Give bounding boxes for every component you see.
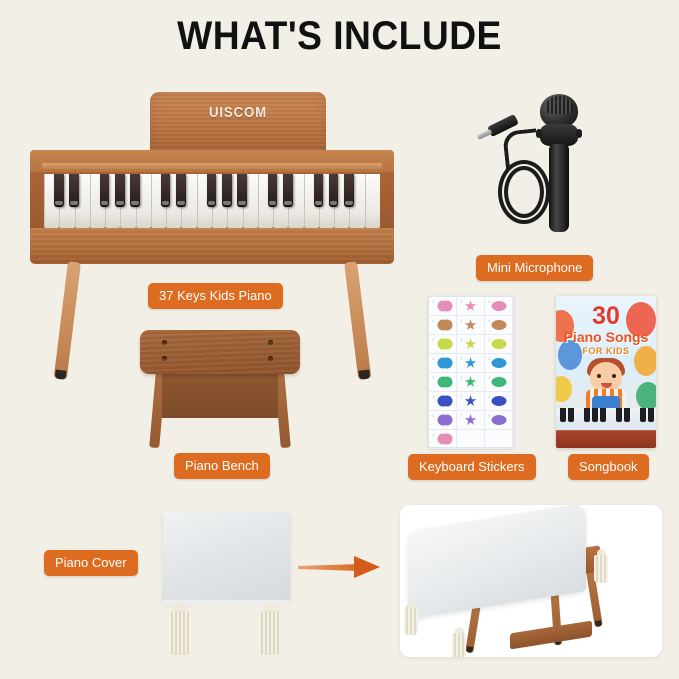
tassel-skirt xyxy=(169,611,191,655)
sticker-star-icon xyxy=(465,357,477,369)
music-note-icon: ♪ xyxy=(432,300,435,305)
product-infographic: WHAT'S INCLUDE UISCOM 37 Keys Kids Piano… xyxy=(0,0,679,679)
cover-cloth xyxy=(163,512,290,602)
tassel-skirt xyxy=(404,607,418,635)
piano-black-key xyxy=(176,174,185,207)
bench-apron xyxy=(162,372,278,418)
music-note-icon: ♪ xyxy=(460,300,463,305)
sticker-star-icon xyxy=(465,319,477,331)
product-songbook: 30 Piano Songs FOR KIDS xyxy=(556,296,656,448)
sticker-oval-icon xyxy=(491,301,506,311)
music-note-icon: ♪ xyxy=(460,376,463,381)
arrow-head xyxy=(354,556,380,578)
piano-front-panel xyxy=(30,228,394,264)
piano-black-key xyxy=(161,174,170,207)
sticker-star-icon xyxy=(465,414,477,426)
piano-leg-left xyxy=(54,261,81,380)
piano-black-key xyxy=(268,174,277,207)
piano-black-key xyxy=(314,174,323,207)
piano-black-key xyxy=(54,174,63,207)
sticker-moon-icon xyxy=(437,320,448,331)
balloon-icon xyxy=(556,376,572,402)
product-keyboard-stickers: ♪♪♪♪♪♪♪♪♪♪♪♪♪♪♪♪♪♪♪♪♪♪ xyxy=(428,296,514,448)
music-note-icon: ♪ xyxy=(460,395,463,400)
sticker-oval-icon xyxy=(491,396,506,406)
tassel-skirt xyxy=(594,555,608,583)
sticker-moon-icon xyxy=(437,301,448,312)
sticker-cell: ♪ xyxy=(429,373,457,392)
brand-logo: UISCOM xyxy=(161,104,316,121)
sticker-cell: ♪ xyxy=(485,297,513,316)
piano-leg-right xyxy=(344,261,371,380)
tassel-skirt xyxy=(259,611,281,655)
cover-in-use-panel xyxy=(400,505,662,657)
product-bench xyxy=(140,330,300,450)
music-note-icon: ♪ xyxy=(432,338,435,343)
piano-white-key xyxy=(365,174,380,228)
mic-grill xyxy=(545,96,573,114)
panel-tassel-mid xyxy=(452,627,466,657)
sticker-moon-icon xyxy=(437,434,448,445)
sticker-oval-icon xyxy=(491,339,506,349)
sticker-cell: ♪ xyxy=(485,316,513,335)
label-piano: 37 Keys Kids Piano xyxy=(148,283,283,309)
piano-black-key xyxy=(207,174,216,207)
sticker-oval-icon xyxy=(491,415,506,425)
mic-handle xyxy=(549,144,569,232)
panel-cover-cloth xyxy=(408,505,586,619)
sticker-cell: ♪ xyxy=(485,354,513,373)
sticker-cell: ♪ xyxy=(429,392,457,411)
bench-screw-hole xyxy=(162,340,167,345)
sticker-cell: ♪ xyxy=(429,316,457,335)
balloon-icon xyxy=(636,382,656,410)
sticker-cell: ♪ xyxy=(457,335,485,354)
piano-black-key xyxy=(344,174,353,207)
music-note-icon: ♪ xyxy=(432,395,435,400)
music-note-icon: ♪ xyxy=(432,414,435,419)
boy-eye-right xyxy=(612,374,616,378)
arrow-shaft xyxy=(298,564,360,571)
bench-screw-hole xyxy=(268,340,273,345)
panel-bench xyxy=(510,621,592,650)
piano-black-key xyxy=(130,174,139,207)
piano-black-key xyxy=(329,174,338,207)
sticker-moon-icon xyxy=(437,396,448,407)
sticker-cell: ♪ xyxy=(457,373,485,392)
sticker-moon-icon xyxy=(437,415,448,426)
label-songbook: Songbook xyxy=(568,454,649,480)
sticker-cell: ♪ xyxy=(457,354,485,373)
mic-cable-lead xyxy=(502,128,540,169)
sticker-star-icon xyxy=(465,395,477,407)
sticker-cell: ♪ xyxy=(485,411,513,430)
bench-screw-hole xyxy=(162,356,167,361)
sticker-star-icon xyxy=(465,376,477,388)
panel-tassel-left xyxy=(404,601,418,635)
songbook-black-key xyxy=(560,408,566,422)
sticker-cell: ♪ xyxy=(485,373,513,392)
piano-black-key xyxy=(237,174,246,207)
sticker-cell: ♪ xyxy=(429,354,457,373)
product-piano: UISCOM xyxy=(26,92,398,292)
sticker-cell: ♪ xyxy=(457,316,485,335)
music-note-icon: ♪ xyxy=(460,338,463,343)
sticker-cell: ♪ xyxy=(429,297,457,316)
sticker-cell: ♪ xyxy=(485,335,513,354)
piano-black-key xyxy=(115,174,124,207)
sticker-cell: ♪ xyxy=(485,392,513,411)
cover-tassel-right xyxy=(259,602,281,654)
songbook-black-key xyxy=(616,408,622,422)
songbook-black-key xyxy=(640,408,646,422)
boy-eye-left xyxy=(597,374,601,378)
songbook-black-key xyxy=(584,408,590,422)
sticker-cell: ♪ xyxy=(429,430,457,449)
sticker-cell: ♪ xyxy=(457,392,485,411)
songbook-black-key xyxy=(568,408,574,422)
songbook-subtitle: FOR KIDS xyxy=(556,346,656,356)
label-bench: Piano Bench xyxy=(174,453,270,479)
piano-black-key xyxy=(69,174,78,207)
sticker-cell: ♪ xyxy=(429,411,457,430)
product-piano-cover xyxy=(163,512,290,657)
tassel-skirt xyxy=(452,633,466,657)
sticker-moon-icon xyxy=(437,358,448,369)
piano-black-key xyxy=(283,174,292,207)
music-note-icon: ♪ xyxy=(460,414,463,419)
songbook-black-key xyxy=(592,408,598,422)
songbook-piano-illustration xyxy=(556,408,656,448)
sticker-moon-icon xyxy=(437,377,448,388)
music-note-icon: ♪ xyxy=(432,433,435,438)
panel-tassel-right xyxy=(594,549,608,583)
sticker-star-icon xyxy=(465,338,477,350)
product-microphone xyxy=(488,90,598,245)
sticker-cell: ♪ xyxy=(429,335,457,354)
sticker-cell xyxy=(485,430,513,449)
mic-collar xyxy=(540,124,578,146)
piano-black-key xyxy=(222,174,231,207)
sticker-cell xyxy=(457,430,485,449)
music-note-icon: ♪ xyxy=(432,376,435,381)
sticker-oval-icon xyxy=(491,377,506,387)
sticker-cell: ♪ xyxy=(457,411,485,430)
songbook-title: Piano Songs xyxy=(556,330,656,344)
label-cover: Piano Cover xyxy=(44,550,138,576)
songbook-black-key xyxy=(648,408,654,422)
music-note-icon: ♪ xyxy=(432,319,435,324)
sticker-cell: ♪ xyxy=(457,297,485,316)
music-note-icon: ♪ xyxy=(460,357,463,362)
mic-cable-coil-inner xyxy=(504,166,544,218)
cover-tassel-left xyxy=(169,602,191,654)
music-note-icon: ♪ xyxy=(432,357,435,362)
piano-black-key xyxy=(100,174,109,207)
sticker-moon-icon xyxy=(437,339,448,350)
sticker-star-icon xyxy=(465,300,477,312)
label-stickers: Keyboard Stickers xyxy=(408,454,536,480)
piano-music-stand: UISCOM xyxy=(150,92,326,154)
songbook-number: 30 xyxy=(556,304,656,329)
songbook-black-key xyxy=(624,408,630,422)
piano-keyboard xyxy=(44,174,380,228)
sticker-oval-icon xyxy=(491,320,506,330)
label-microphone: Mini Microphone xyxy=(476,255,593,281)
songbook-black-key xyxy=(600,408,606,422)
page-title: WHAT'S INCLUDE xyxy=(24,14,655,59)
music-note-icon: ♪ xyxy=(460,319,463,324)
bench-screw-hole xyxy=(268,356,273,361)
sticker-oval-icon xyxy=(491,358,506,368)
bench-seat xyxy=(140,330,300,374)
arrow-right-icon xyxy=(298,555,384,579)
